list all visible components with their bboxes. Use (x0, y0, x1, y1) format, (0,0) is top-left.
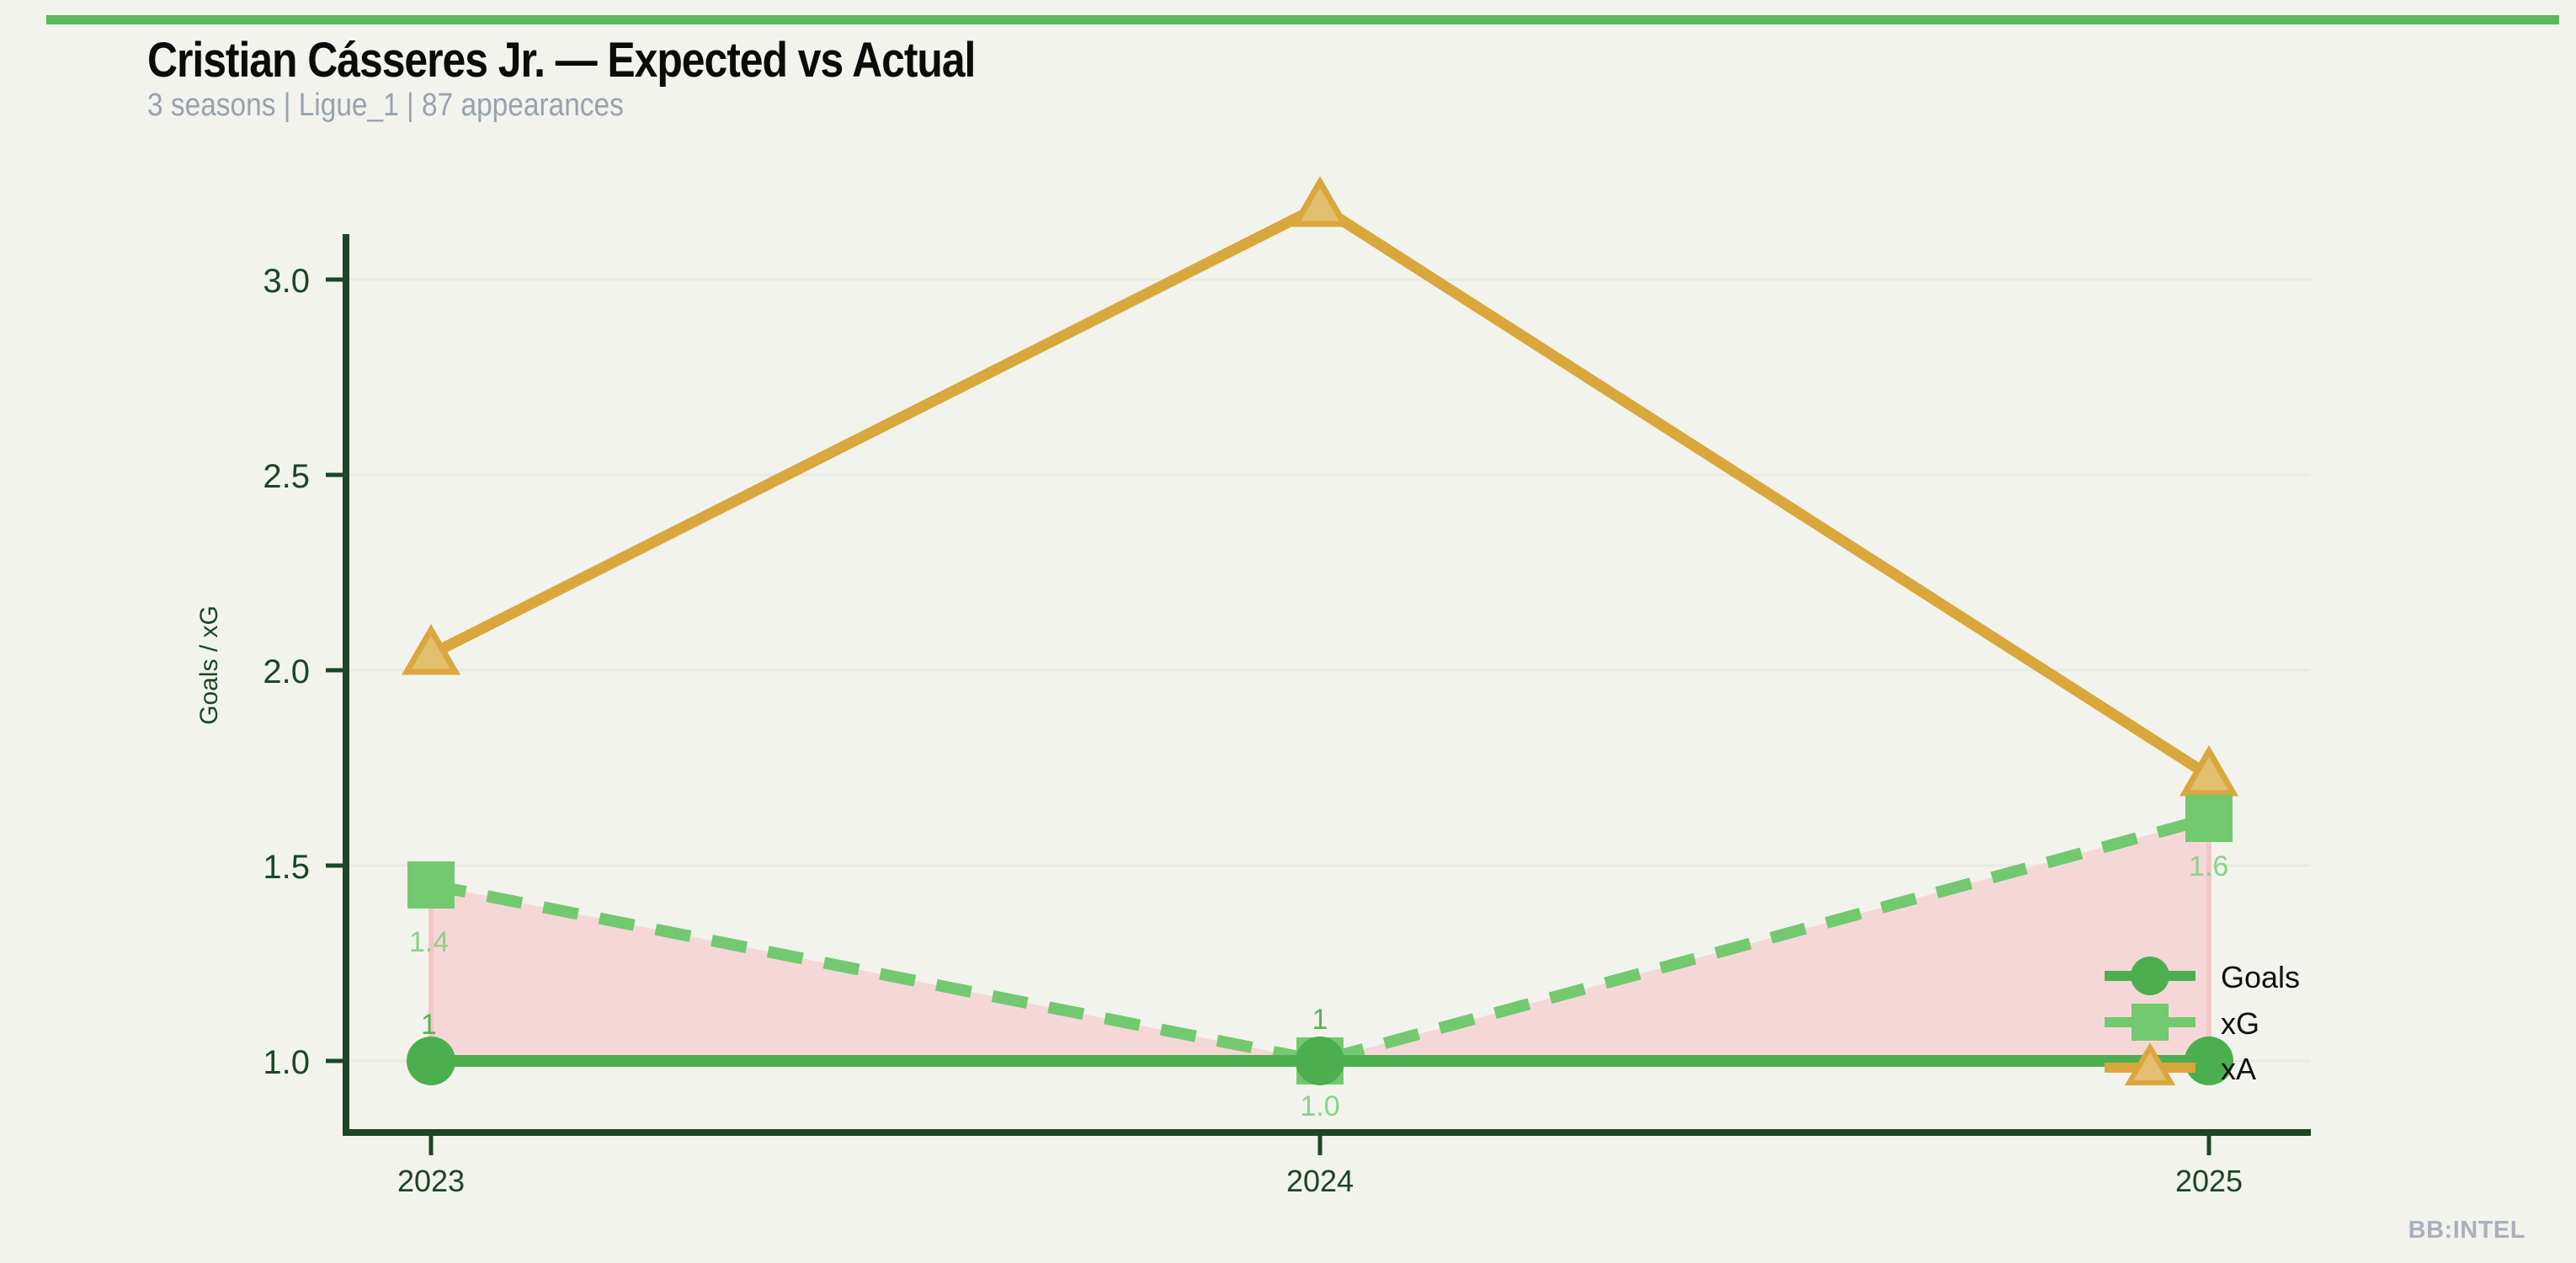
legend-label-xa: xA (2221, 1052, 2256, 1086)
marker-xa-2025 (2185, 751, 2233, 793)
xtick-label-2025: 2025 (2175, 1164, 2243, 1198)
marker-goals-2023 (407, 1037, 455, 1085)
point-label-xg-2025: 1.6 (2189, 850, 2228, 882)
series-line-xa (431, 206, 2209, 775)
ytick-label-1-0: 1.0 (263, 1044, 310, 1081)
x-axis-ticks (431, 1132, 2209, 1155)
point-label-xg-2023: 1.4 (409, 926, 449, 958)
legend-marker-square-xg (2132, 1004, 2169, 1041)
legend-label-xg: xG (2221, 1006, 2259, 1041)
marker-xa-2024 (1296, 182, 1344, 224)
ytick-label-3-0: 3.0 (263, 263, 310, 300)
point-label-goals-2023: 1 (421, 1009, 437, 1041)
ytick-label-1-5: 1.5 (263, 849, 310, 886)
legend-marker-circle-goals (2131, 957, 2169, 995)
xtick-label-2023: 2023 (397, 1164, 465, 1198)
xtick-label-2024: 2024 (1286, 1164, 1354, 1198)
ytick-label-2-5: 2.5 (263, 458, 310, 495)
ytick-label-2-0: 2.0 (263, 653, 310, 690)
y-axis-title: Goals / xG (195, 605, 223, 725)
legend-label-goals: Goals (2221, 960, 2300, 994)
watermark: BB:INTEL (2408, 1217, 2525, 1244)
expected-vs-actual-chart: 1.4 1 1 1.0 1.6 3.0 2.5 2.0 1.5 1.0 Goal… (0, 0, 2576, 1263)
point-label-goals-2024: 1 (1312, 1004, 1328, 1036)
marker-xg-2025 (2185, 795, 2233, 842)
marker-xg-2023 (407, 861, 455, 909)
marker-goals-2024 (1296, 1037, 1344, 1085)
point-label-xg-2024: 1.0 (1300, 1090, 1339, 1122)
